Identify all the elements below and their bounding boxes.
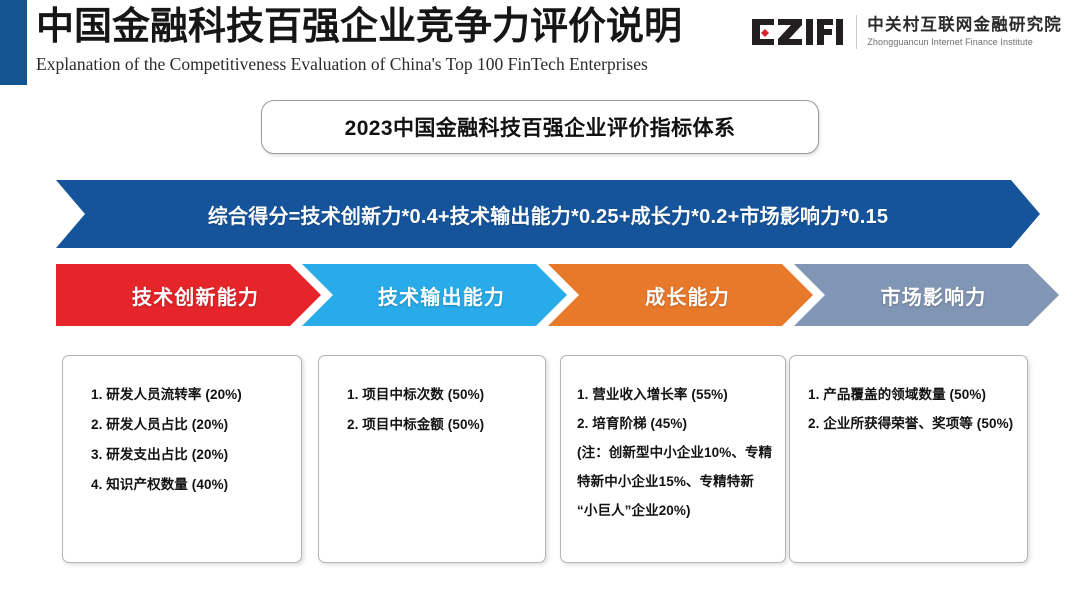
indicator-card-growth: 1. 营业收入增长率 (55%) 2. 培育阶梯 (45%) (注：创新型中小企…: [560, 355, 786, 563]
indicator-item: 4. 知识产权数量 (40%): [77, 470, 289, 500]
page-title-en: Explanation of the Competitiveness Evalu…: [36, 52, 682, 76]
dimension-chevron-output: 技术输出能力: [302, 264, 567, 326]
indicator-card-innovation: 1. 研发人员流转率 (20%) 2. 研发人员占比 (20%) 3. 研发支出…: [62, 355, 302, 563]
czifi-logo-icon: [750, 17, 846, 47]
dimension-label-market: 市场影响力: [881, 281, 987, 310]
dimension-label-output: 技术输出能力: [378, 281, 505, 310]
indicator-item: 2. 项目中标金额 (50%): [333, 410, 533, 440]
dimension-chevron-innovation: 技术创新能力: [56, 264, 321, 326]
indicator-item: 2. 研发人员占比 (20%): [77, 410, 289, 440]
score-formula-chevron-shape: 综合得分=技术创新力*0.4+技术输出能力*0.25+成长力*0.2+市场影响力…: [56, 180, 1040, 248]
logo-text-block: 中关村互联网金融研究院 Zhongguancun Internet Financ…: [867, 15, 1062, 49]
logo-name-en: Zhongguancun Internet Finance Institute: [867, 36, 1062, 49]
dimension-chevron-row: 技术创新能力 技术输出能力 成长能力 市场影响力: [56, 264, 1040, 326]
indicator-note: (注：创新型中小企业10%、专精特新中小企业15%、专精特新“小巨人”企业20%…: [575, 438, 773, 525]
indicator-item: 1. 营业收入增长率 (55%): [575, 380, 773, 409]
logo-divider: [856, 15, 857, 49]
indicator-item: 2. 培育阶梯 (45%): [575, 409, 773, 438]
organization-logo: 中关村互联网金融研究院 Zhongguancun Internet Financ…: [750, 10, 1062, 54]
logo-name-cn: 中关村互联网金融研究院: [867, 15, 1062, 35]
indicator-card-market: 1. 产品覆盖的领域数量 (50%) 2. 企业所获得荣誉、奖项等 (50%): [789, 355, 1028, 563]
indicator-system-title-card: 2023中国金融科技百强企业评价指标体系: [261, 100, 819, 154]
indicator-detail-cards: 1. 研发人员流转率 (20%) 2. 研发人员占比 (20%) 3. 研发支出…: [62, 355, 1028, 563]
score-formula-text: 综合得分=技术创新力*0.4+技术输出能力*0.25+成长力*0.2+市场影响力…: [208, 200, 888, 229]
indicator-item: 1. 项目中标次数 (50%): [333, 380, 533, 410]
header-accent-bar: [0, 0, 27, 85]
page-header: 中国金融科技百强企业竞争力评价说明 Explanation of the Com…: [0, 0, 1080, 88]
indicator-system-title: 2023中国金融科技百强企业评价指标体系: [345, 112, 736, 142]
dimension-chevron-market: 市场影响力: [794, 264, 1059, 326]
score-formula-banner: 综合得分=技术创新力*0.4+技术输出能力*0.25+成长力*0.2+市场影响力…: [56, 180, 1040, 248]
dimension-label-innovation: 技术创新能力: [132, 281, 259, 310]
indicator-item: 2. 企业所获得荣誉、奖项等 (50%): [804, 409, 1015, 438]
dimension-label-growth: 成长能力: [645, 281, 730, 310]
page-title-cn: 中国金融科技百强企业竞争力评价说明: [36, 4, 682, 50]
indicator-item: 3. 研发支出占比 (20%): [77, 440, 289, 470]
dimension-chevron-growth: 成长能力: [548, 264, 813, 326]
indicator-item: 1. 研发人员流转率 (20%): [77, 380, 289, 410]
indicator-card-output: 1. 项目中标次数 (50%) 2. 项目中标金额 (50%): [318, 355, 546, 563]
header-title-block: 中国金融科技百强企业竞争力评价说明 Explanation of the Com…: [36, 4, 682, 76]
indicator-item: 1. 产品覆盖的领域数量 (50%): [804, 380, 1015, 409]
